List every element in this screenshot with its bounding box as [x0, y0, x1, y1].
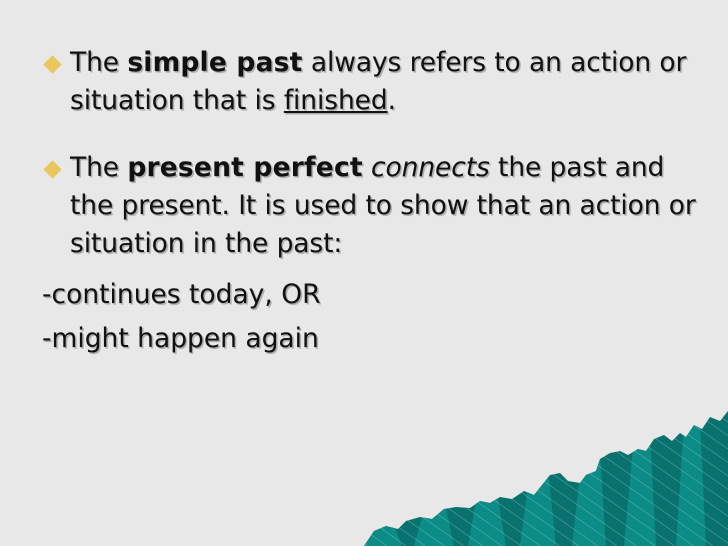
bullet-paragraph-present-perfect: The present perfect connects the past an… — [70, 149, 698, 262]
sub-item-might-happen-again: -might happen again — [42, 320, 698, 358]
text-segment-underlined: finished — [284, 85, 388, 116]
bullet-item-present-perfect: The present perfect connects the past an… — [38, 149, 698, 262]
slide-canvas: The simple past always refers to an acti… — [0, 0, 728, 546]
mountain-ridge-columns — [328, 411, 728, 546]
sub-item-list: -continues today, OR -might happen again — [38, 276, 698, 357]
text-segment-italic: connects — [371, 152, 490, 183]
text-segment-bold: simple past — [127, 47, 302, 78]
text-segment — [363, 152, 371, 183]
bullet-item-simple-past: The simple past always refers to an acti… — [38, 44, 698, 119]
slide-text-content: The simple past always refers to an acti… — [0, 0, 728, 363]
teal-mountain-graphic — [328, 411, 728, 546]
bullet-paragraph-simple-past: The simple past always refers to an acti… — [70, 44, 698, 119]
mountain-base-shape — [364, 411, 728, 546]
text-segment: The — [70, 47, 127, 78]
diamond-bullet-icon — [43, 161, 61, 179]
text-segment-bold: present perfect — [127, 152, 362, 183]
text-segment: The — [70, 152, 127, 183]
text-segment: . — [388, 85, 396, 116]
sub-item-continues-today: -continues today, OR — [42, 276, 698, 314]
diamond-bullet-icon — [43, 55, 61, 73]
